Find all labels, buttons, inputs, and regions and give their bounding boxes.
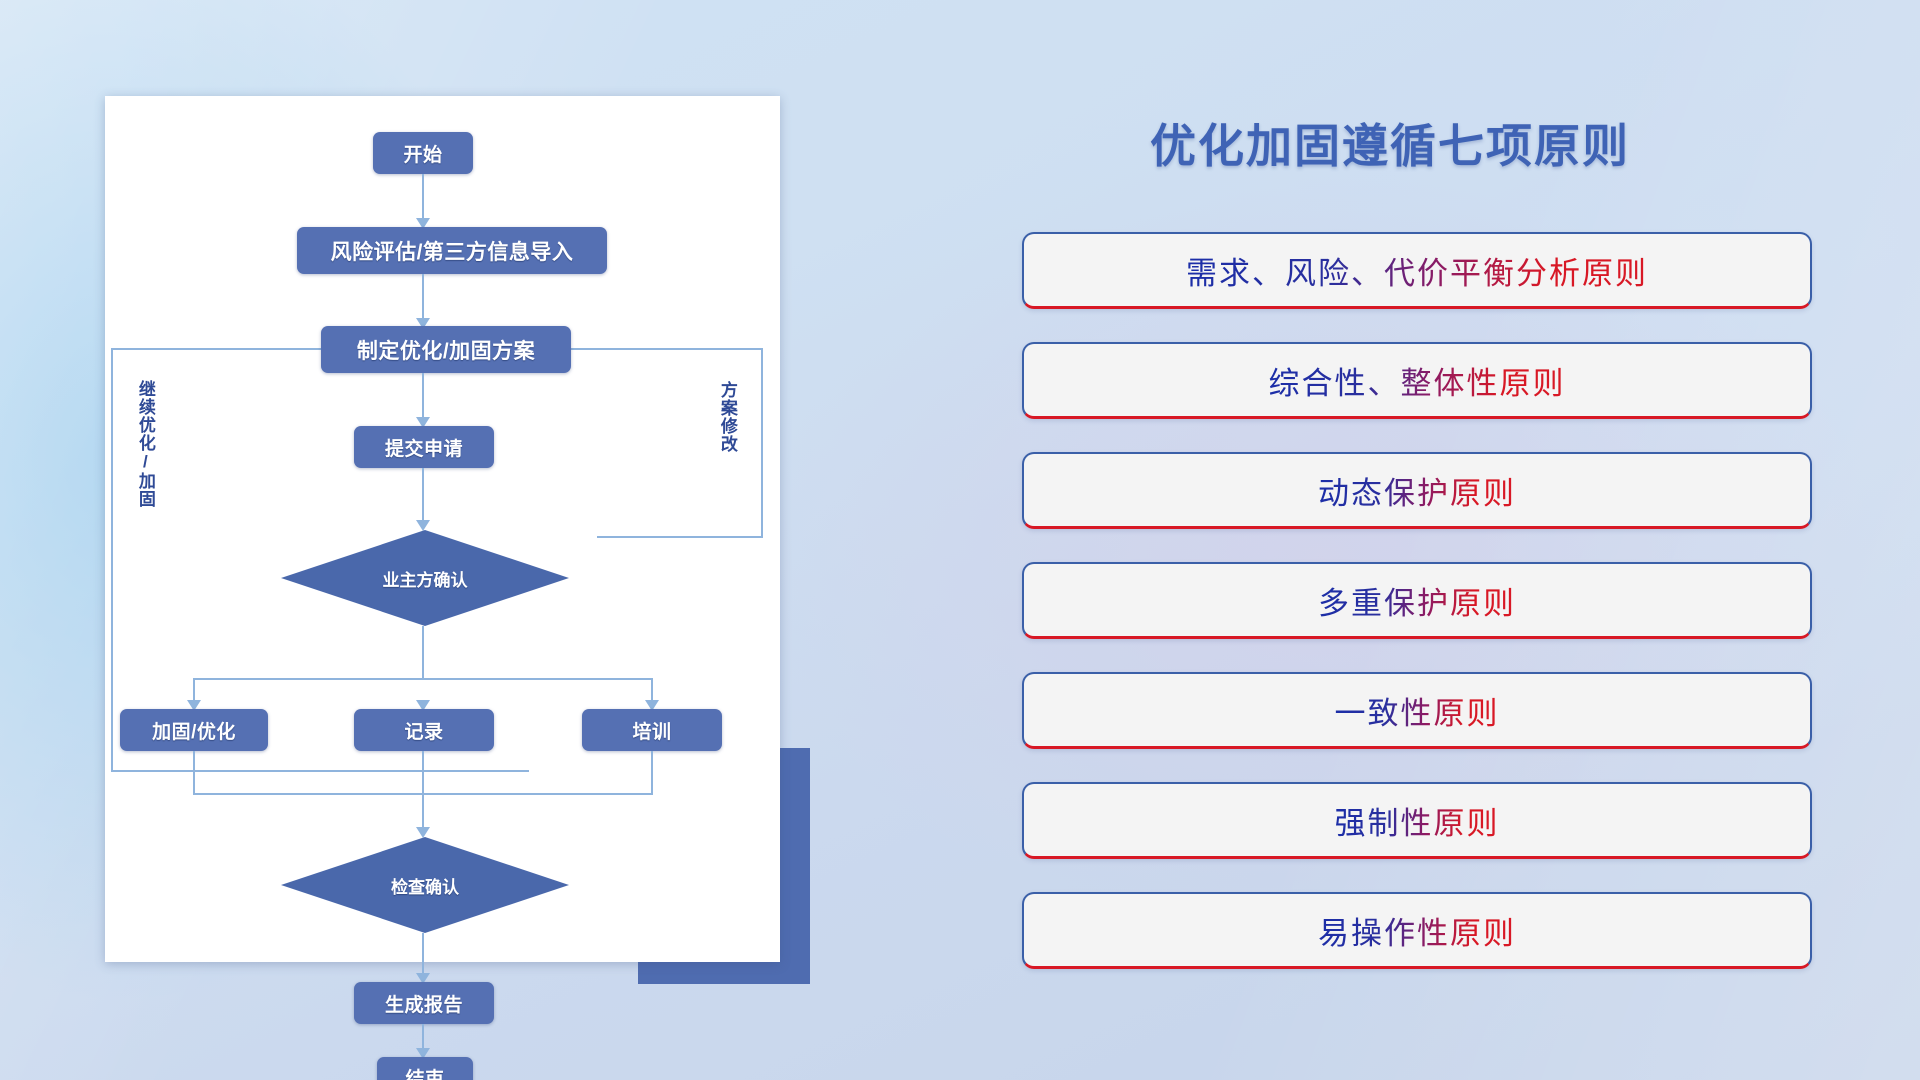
loop-left-vertical [111, 348, 113, 772]
node-plan[interactable]: 制定优化/加固方案 [321, 326, 571, 373]
principle-label: 一致性原则 [1335, 688, 1500, 733]
principle-card[interactable]: 易操作性原则 [1022, 892, 1812, 969]
node-record[interactable]: 记录 [354, 709, 494, 751]
loop-right-bottom [597, 536, 763, 538]
node-plan-label: 制定优化/加固方案 [357, 335, 535, 365]
principle-card[interactable]: 动态保护原则 [1022, 452, 1812, 529]
principle-card[interactable]: 需求、风险、代价平衡分析原则 [1022, 232, 1812, 309]
principle-card[interactable]: 一致性原则 [1022, 672, 1812, 749]
node-owner-confirm[interactable]: 业主方确认 [281, 530, 569, 626]
edge-check-arrowhead-icon [416, 827, 430, 838]
loop-right-vertical [761, 348, 763, 538]
node-record-label: 记录 [404, 717, 443, 744]
principle-label: 易操作性原则 [1318, 908, 1516, 953]
principle-card[interactable]: 多重保护原则 [1022, 562, 1812, 639]
edge-owner-fanout [193, 678, 653, 680]
panel-title: 优化加固遵循七项原则 [1150, 110, 1630, 176]
principle-label: 需求、风险、代价平衡分析原则 [1186, 248, 1648, 293]
node-owner-confirm-label: 业主方确认 [383, 566, 468, 591]
slide-canvas: 开始 风险评估/第三方信息导入 制定优化/加固方案 提交申请 [0, 0, 1920, 1080]
node-reinforce[interactable]: 加固/优化 [120, 709, 268, 751]
node-check-confirm-label: 检查确认 [391, 873, 459, 898]
principle-card[interactable]: 强制性原则 [1022, 782, 1812, 859]
node-report[interactable]: 生成报告 [354, 982, 494, 1024]
node-risk-assessment[interactable]: 风险评估/第三方信息导入 [297, 227, 607, 274]
loop-left-bottom [111, 770, 529, 772]
principles-list: 需求、风险、代价平衡分析原则 综合性、整体性原则 动态保护原则 多重保护原则 一… [1022, 232, 1812, 1002]
node-start-label: 开始 [403, 140, 442, 167]
edge-submit-arrowhead-icon [416, 520, 430, 531]
node-report-label: 生成报告 [385, 990, 463, 1017]
principle-card[interactable]: 综合性、整体性原则 [1022, 342, 1812, 419]
node-submit-label: 提交申请 [385, 434, 463, 461]
edge-label-continue-optimize: 继续优化/加固 [136, 380, 154, 508]
principle-label: 多重保护原则 [1318, 578, 1516, 623]
node-submit[interactable]: 提交申请 [354, 426, 494, 468]
edge-label-plan-revision: 方案修改 [718, 381, 736, 453]
node-risk-assessment-label: 风险评估/第三方信息导入 [331, 236, 574, 266]
node-training-label: 培训 [632, 717, 671, 744]
node-reinforce-label: 加固/优化 [152, 717, 236, 744]
node-training[interactable]: 培训 [582, 709, 722, 751]
principle-label: 动态保护原则 [1318, 468, 1516, 513]
edge-submit-to-owner [422, 468, 424, 528]
edge-training-down [651, 751, 653, 795]
edge-merge-to-check [422, 751, 424, 835]
node-start[interactable]: 开始 [373, 132, 473, 174]
principle-label: 强制性原则 [1335, 798, 1500, 843]
principle-label: 综合性、整体性原则 [1269, 358, 1566, 403]
flowchart-card: 开始 风险评估/第三方信息导入 制定优化/加固方案 提交申请 [105, 96, 780, 962]
node-end[interactable]: 结束 [377, 1057, 473, 1080]
edge-reinforce-down [193, 751, 195, 795]
node-end-label: 结束 [405, 1064, 444, 1080]
flowchart-diagram: 开始 风险评估/第三方信息导入 制定优化/加固方案 提交申请 [105, 96, 780, 962]
edge-owner-down [422, 626, 424, 680]
node-check-confirm[interactable]: 检查确认 [281, 837, 569, 933]
